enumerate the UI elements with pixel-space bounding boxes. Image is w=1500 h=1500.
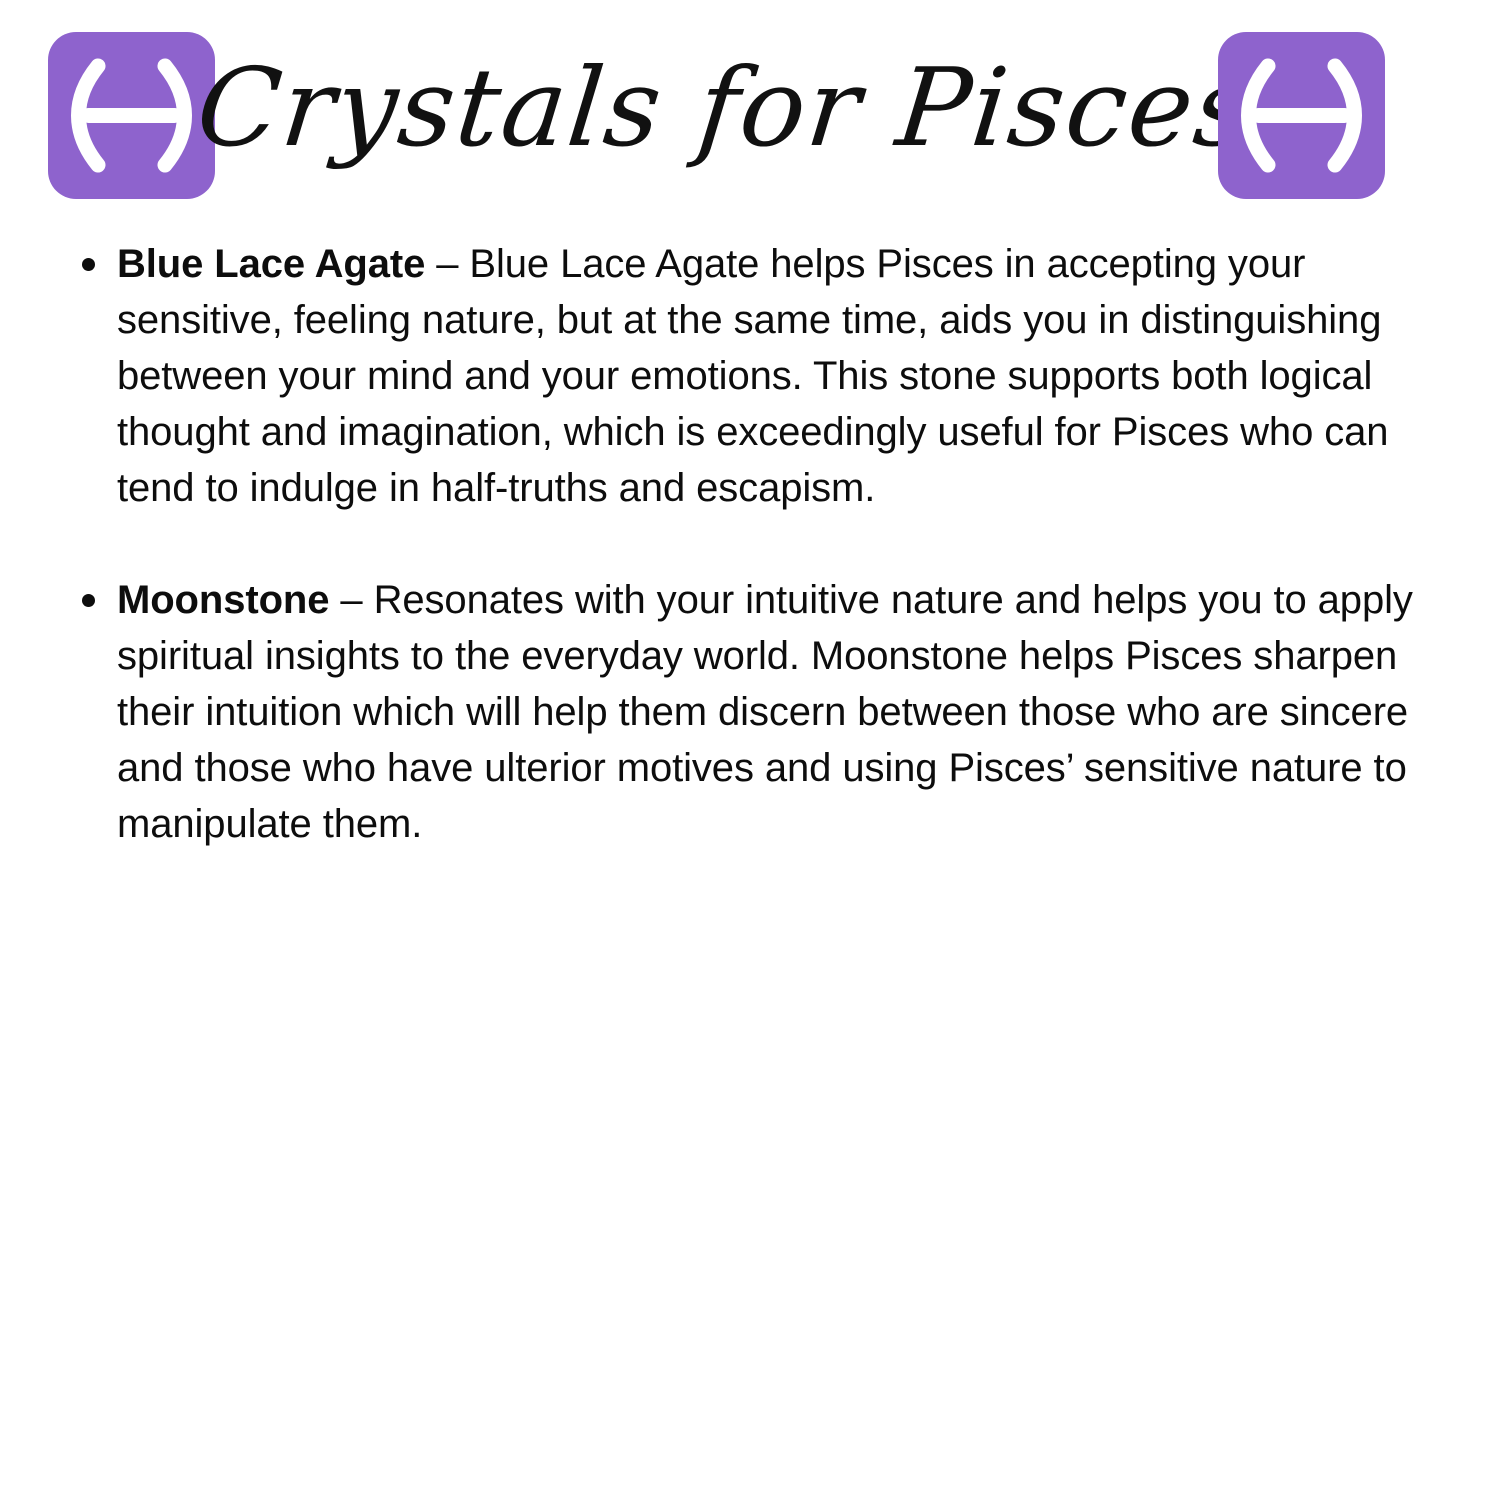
bullet-dot-icon [82,258,95,271]
crystal-name: Moonstone [117,578,329,622]
crystal-list: Blue Lace Agate – Blue Lace Agate helps … [0,236,1500,852]
pisces-badge-left [48,32,215,199]
pisces-zodiac-icon [48,32,215,199]
list-item: Moonstone – Resonates with your intuitiv… [0,572,1500,852]
page-title: Crystals for Pisces [240,14,1210,204]
pisces-badge-right [1218,32,1385,199]
crystal-name: Blue Lace Agate [117,242,425,286]
crystal-separator: – [425,242,469,286]
crystal-content: Blue Lace Agate – Blue Lace Agate helps … [0,236,1500,852]
crystal-separator: – [329,578,373,622]
list-item: Blue Lace Agate – Blue Lace Agate helps … [0,236,1500,516]
bullet-dot-icon [82,594,95,607]
pisces-zodiac-icon [1218,32,1385,199]
page-header: Crystals for Pisces [0,0,1500,230]
